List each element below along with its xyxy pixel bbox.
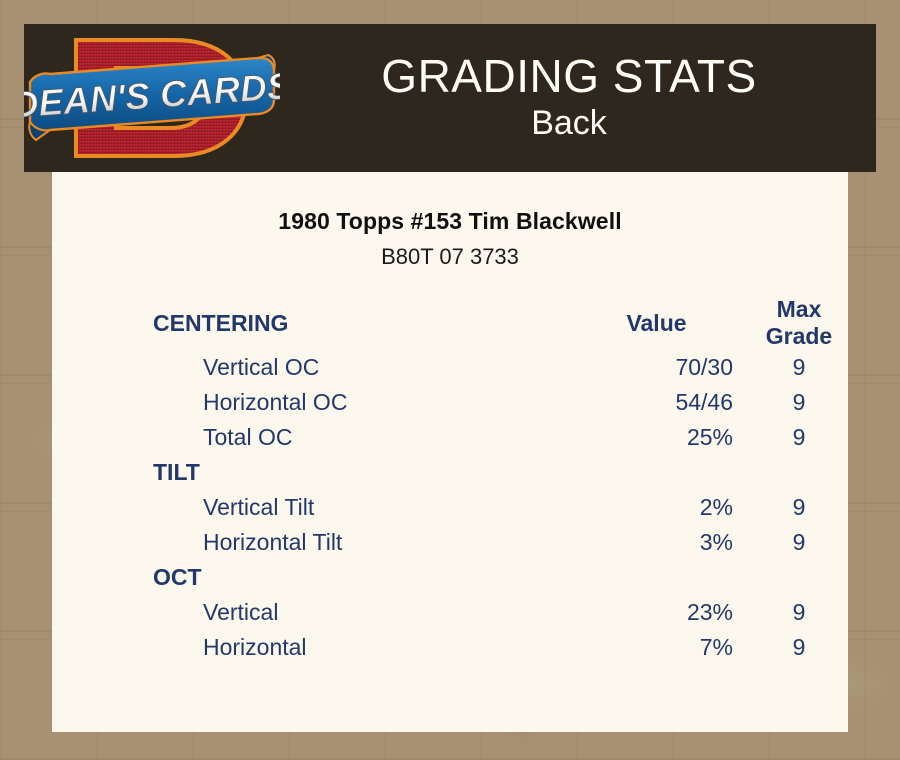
section-header-row: TILT xyxy=(52,455,848,490)
table-row: Total OC25%9 xyxy=(52,420,848,455)
card-title: 1980 Topps #153 Tim Blackwell xyxy=(52,208,848,235)
column-header-max-grade: Max Grade xyxy=(750,296,848,350)
header-titles: GRADING STATS Back xyxy=(280,52,858,144)
section-header-oct: OCT xyxy=(52,560,563,595)
stat-label: Total OC xyxy=(52,420,563,455)
table-header-row: CENTERINGValueMax Grade xyxy=(52,296,848,350)
table-row: Horizontal Tilt3%9 xyxy=(52,525,848,560)
table-row: Vertical Tilt2%9 xyxy=(52,490,848,525)
table-row: Horizontal7%9 xyxy=(52,630,848,665)
stat-max-grade: 9 xyxy=(750,385,848,420)
stat-label: Horizontal Tilt xyxy=(52,525,563,560)
card-code: B80T 07 3733 xyxy=(52,244,848,270)
stat-value: 3% xyxy=(563,525,750,560)
stat-label: Horizontal xyxy=(52,630,563,665)
section-header-tilt: TILT xyxy=(52,455,563,490)
section-header-centering: CENTERING xyxy=(52,296,563,350)
stat-label: Vertical OC xyxy=(52,350,563,385)
logo-artwork: DEAN'S CARDS xyxy=(24,24,280,172)
stat-max-grade: 9 xyxy=(750,420,848,455)
grading-stats-table: CENTERINGValueMax GradeVertical OC70/309… xyxy=(52,296,848,665)
table-row: Vertical23%9 xyxy=(52,595,848,630)
stat-value: 70/30 xyxy=(563,350,750,385)
page-subtitle: Back xyxy=(531,103,607,144)
grading-stats-body: CENTERINGValueMax GradeVertical OC70/309… xyxy=(52,296,848,665)
stat-value: 7% xyxy=(563,630,750,665)
stat-max-grade: 9 xyxy=(750,490,848,525)
column-header-value: Value xyxy=(563,296,750,350)
stat-value: 54/46 xyxy=(563,385,750,420)
stat-value: 23% xyxy=(563,595,750,630)
header-bar: DEAN'S CARDS GRADING STATS Back xyxy=(24,24,876,172)
stat-value: 25% xyxy=(563,420,750,455)
stat-label: Horizontal OC xyxy=(52,385,563,420)
section-header-row: OCT xyxy=(52,560,848,595)
stat-label: Vertical Tilt xyxy=(52,490,563,525)
stat-label: Vertical xyxy=(52,595,563,630)
page-title: GRADING STATS xyxy=(381,52,756,101)
content-panel: 1980 Topps #153 Tim Blackwell B80T 07 37… xyxy=(52,172,848,732)
stat-max-grade: 9 xyxy=(750,630,848,665)
deans-cards-logo[interactable]: DEAN'S CARDS xyxy=(24,24,280,172)
stat-value: 2% xyxy=(563,490,750,525)
stat-max-grade: 9 xyxy=(750,525,848,560)
table-row: Vertical OC70/309 xyxy=(52,350,848,385)
table-row: Horizontal OC54/469 xyxy=(52,385,848,420)
stat-max-grade: 9 xyxy=(750,595,848,630)
stat-max-grade: 9 xyxy=(750,350,848,385)
